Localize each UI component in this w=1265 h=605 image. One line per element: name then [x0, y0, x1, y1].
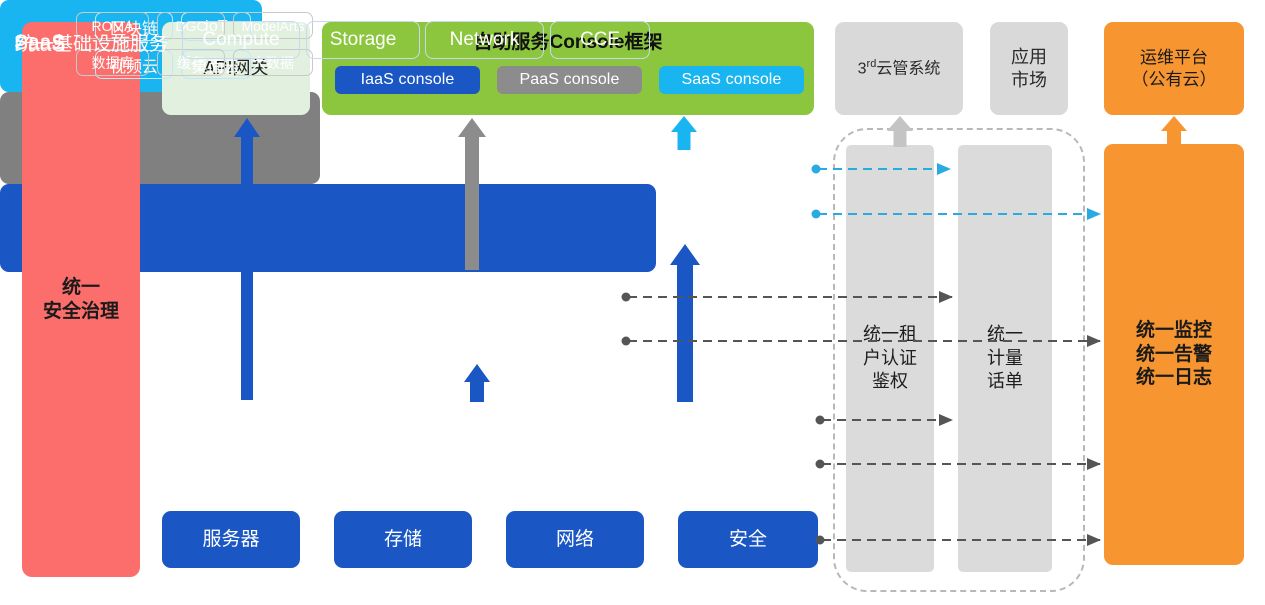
ops-top-line-2: （公有云） — [1132, 69, 1217, 90]
hardware-box-security[interactable]: 安全 — [678, 511, 818, 568]
auth-line-2: 户认证 — [863, 347, 917, 370]
infra-tile-cce[interactable]: CCE — [550, 21, 650, 59]
ops-col-line-3: 统一日志 — [1136, 366, 1212, 390]
hardware-security-label: 安全 — [729, 528, 767, 552]
unified-security-governance-panel[interactable]: 统一 安全治理 — [22, 22, 140, 577]
billing-line-1: 统一 — [987, 323, 1023, 346]
app-market-line-2: 市场 — [1011, 69, 1047, 92]
orange-up-arrow-icon-ops-platform — [1159, 116, 1189, 146]
security-line-1: 统一 — [43, 276, 119, 300]
gray-up-arrow-icon-third-party — [885, 116, 915, 146]
blue-up-arrow-icon-api-gateway — [232, 118, 262, 400]
app-market-line-1: 应用 — [1011, 46, 1047, 69]
billing-line-3: 话单 — [987, 370, 1023, 393]
third-party-superscript: rd — [867, 58, 877, 70]
infrastructure-label: 统一基础设施服务 — [16, 29, 168, 56]
auth-line-1: 统一租 — [863, 323, 917, 346]
hardware-network-label: 网络 — [556, 528, 594, 552]
hardware-box-server[interactable]: 服务器 — [162, 511, 300, 568]
hardware-box-storage[interactable]: 存储 — [334, 511, 472, 568]
gray-up-arrow-icon-paas-console — [455, 118, 489, 270]
infra-tile-network[interactable]: Network — [425, 21, 544, 59]
third-party-suffix: 云管系统 — [876, 60, 940, 77]
hardware-box-network[interactable]: 网络 — [506, 511, 644, 568]
app-market-box[interactable]: 应用 市场 — [990, 22, 1068, 115]
ops-col-line-1: 统一监控 — [1136, 319, 1212, 343]
blue-up-arrow-icon-infra-saas — [666, 244, 704, 402]
infra-tile-compute[interactable]: Compute — [182, 21, 300, 59]
billing-line-2: 计量 — [987, 347, 1023, 370]
auth-line-3: 鉴权 — [863, 370, 917, 393]
unified-tenant-auth-column[interactable]: 统一租 户认证 鉴权 — [846, 145, 934, 572]
unified-billing-column[interactable]: 统一 计量 话单 — [958, 145, 1052, 572]
architecture-diagram: 统一 安全治理 API网关 自助服务Console框架 IaaS console… — [0, 0, 1265, 605]
hardware-server-label: 服务器 — [202, 528, 259, 552]
infra-tile-network-label: Network — [450, 29, 520, 51]
infra-tile-storage-label: Storage — [330, 29, 397, 51]
security-line-2: 安全治理 — [43, 300, 119, 324]
iaas-console-label: IaaS console — [361, 70, 455, 90]
hardware-storage-label: 存储 — [384, 528, 422, 552]
ops-top-line-1: 运维平台 — [1132, 47, 1217, 68]
cyan-up-arrow-icon-saas-console — [668, 116, 700, 149]
ops-platform-public-cloud-box[interactable]: 运维平台 （公有云） — [1104, 22, 1244, 115]
infra-tile-cce-label: CCE — [580, 29, 620, 51]
blue-up-arrow-icon-infra-paas — [461, 364, 493, 402]
paas-console-chip[interactable]: PaaS console — [497, 66, 642, 94]
iaas-console-chip[interactable]: IaaS console — [335, 66, 480, 94]
unified-monitoring-panel[interactable]: 统一监控 统一告警 统一日志 — [1104, 144, 1244, 565]
infra-tile-compute-label: Compute — [202, 29, 279, 51]
third-party-cloud-mgmt-box[interactable]: 3rd云管系统 — [835, 22, 963, 115]
infra-tile-storage[interactable]: Storage — [306, 21, 420, 59]
ops-col-line-2: 统一告警 — [1136, 343, 1212, 367]
third-party-prefix: 3 — [858, 60, 867, 77]
third-party-label: 3rd云管系统 — [858, 58, 941, 79]
saas-console-chip[interactable]: SaaS console — [659, 66, 804, 94]
saas-console-label: SaaS console — [682, 70, 782, 90]
paas-console-label: PaaS console — [520, 70, 620, 90]
